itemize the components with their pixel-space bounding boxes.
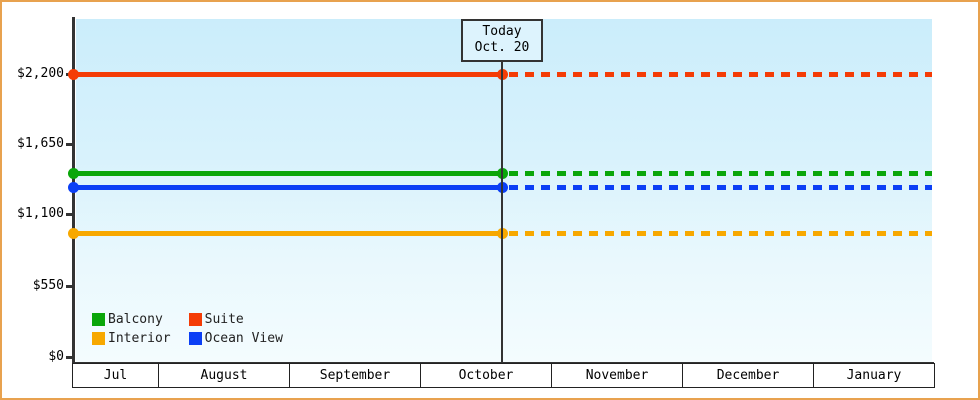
- y-axis-label: $550: [33, 279, 64, 292]
- legend-label-ocean-view: Ocean View: [205, 332, 283, 345]
- y-axis-label: $0: [48, 350, 64, 363]
- series-line-suite-forecast: [509, 72, 932, 77]
- y-axis-label: $1,650: [17, 137, 64, 150]
- series-line-ocean-view-forecast: [509, 185, 932, 190]
- legend-label-interior: Interior: [108, 332, 171, 345]
- x-axis-month-row: Jul August September October November De…: [72, 363, 935, 388]
- legend-item-ocean-view[interactable]: Ocean View: [189, 332, 283, 345]
- y-tick-1650: [66, 143, 73, 146]
- y-axis-label: $2,200: [17, 67, 64, 80]
- y-label-1650-wrap: $1,650: [2, 137, 64, 151]
- y-axis-label: $1,100: [17, 207, 64, 220]
- series-line-interior-forecast: [509, 231, 932, 236]
- month-cell-jul[interactable]: Jul: [73, 364, 159, 387]
- series-marker-interior-start: [68, 228, 79, 239]
- series-line-balcony-forecast: [509, 171, 932, 176]
- legend-item-balcony[interactable]: Balcony: [92, 313, 171, 326]
- legend-label-balcony: Balcony: [108, 313, 163, 326]
- legend-item-suite[interactable]: Suite: [189, 313, 283, 326]
- legend-swatch-suite-icon: [189, 313, 202, 326]
- series-line-balcony-solid: [73, 171, 503, 176]
- month-cell-december[interactable]: December: [683, 364, 814, 387]
- y-label-550-wrap: $550: [2, 279, 64, 293]
- month-cell-september[interactable]: September: [290, 364, 421, 387]
- legend-label-suite: Suite: [205, 313, 244, 326]
- chart-page: $2,200 $1,650 $1,100 $550 $0 Today Oct. …: [0, 0, 980, 400]
- month-cell-november[interactable]: November: [552, 364, 683, 387]
- y-tick-0: [66, 356, 73, 359]
- today-callout-line2: Oct. 20: [473, 40, 531, 56]
- month-cell-january[interactable]: January: [814, 364, 935, 387]
- today-vertical-line: [501, 19, 503, 363]
- month-cell-october[interactable]: October: [421, 364, 552, 387]
- y-label-2200-wrap: $2,200: [2, 67, 64, 81]
- chart-legend: Balcony Suite Interior Ocean View: [92, 313, 283, 345]
- today-callout: Today Oct. 20: [461, 19, 543, 62]
- legend-item-interior[interactable]: Interior: [92, 332, 171, 345]
- series-marker-ocean-view-start: [68, 182, 79, 193]
- series-line-interior-solid: [73, 231, 503, 236]
- y-label-1100-wrap: $1,100: [2, 207, 64, 221]
- series-marker-suite-start: [68, 69, 79, 80]
- y-tick-550: [66, 285, 73, 288]
- legend-swatch-balcony-icon: [92, 313, 105, 326]
- series-marker-balcony-start: [68, 168, 79, 179]
- y-label-0-wrap: $0: [2, 350, 64, 364]
- legend-swatch-interior-icon: [92, 332, 105, 345]
- today-callout-line1: Today: [473, 24, 531, 40]
- legend-swatch-ocean-view-icon: [189, 332, 202, 345]
- month-cell-august[interactable]: August: [159, 364, 290, 387]
- series-line-suite-solid: [73, 72, 503, 77]
- series-line-ocean-view-solid: [73, 185, 503, 190]
- y-tick-1100: [66, 213, 73, 216]
